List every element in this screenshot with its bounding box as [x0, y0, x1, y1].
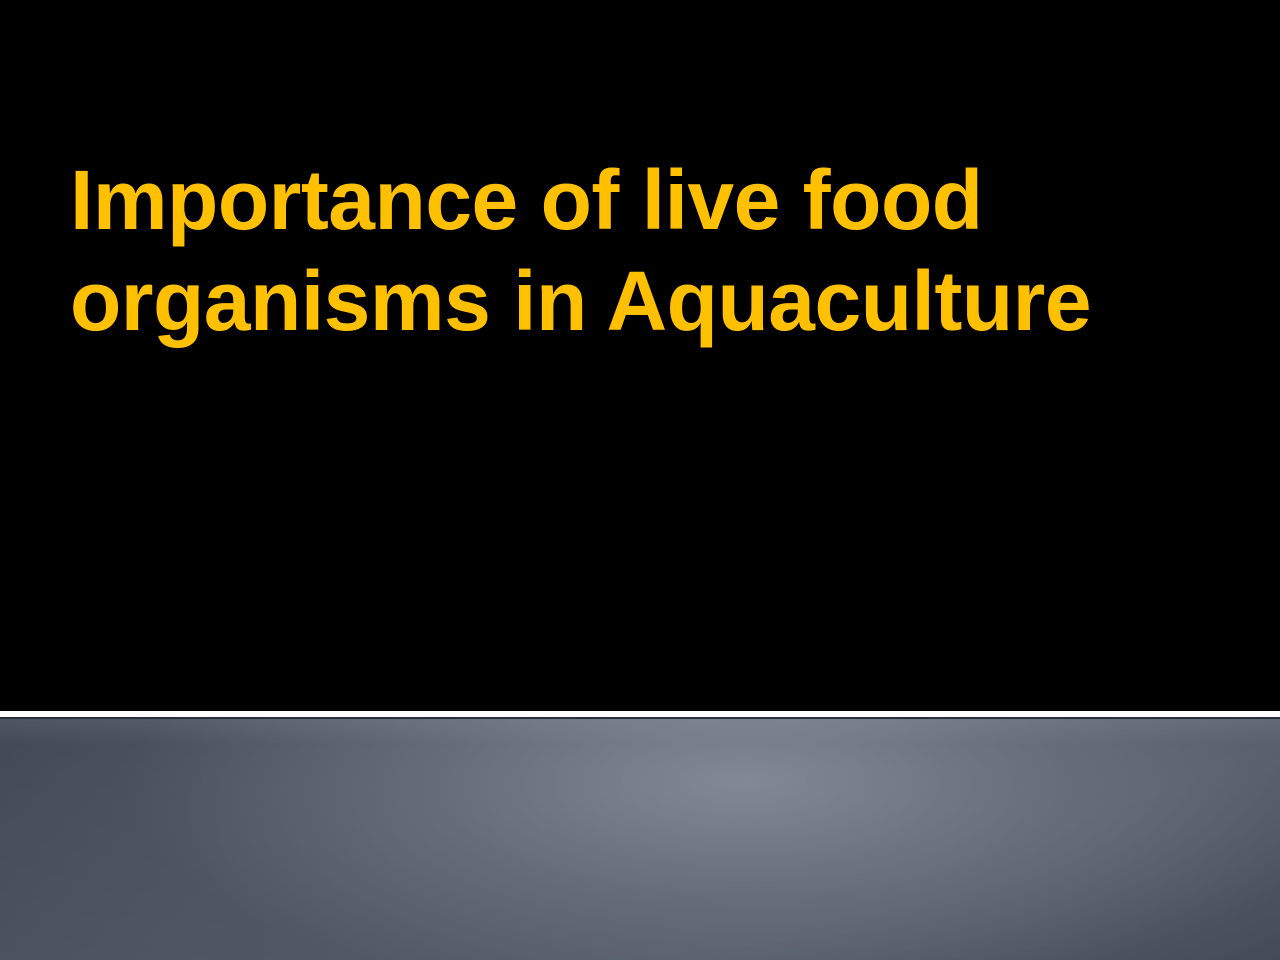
slide-footer-band: [0, 711, 1280, 960]
presentation-slide: Importance of live food organisms in Aqu…: [0, 0, 1280, 960]
footer-band-fill: [0, 719, 1280, 960]
page-title: Importance of live food organisms in Aqu…: [70, 150, 1180, 352]
slide-title-placeholder: Importance of live food organisms in Aqu…: [70, 150, 1180, 352]
